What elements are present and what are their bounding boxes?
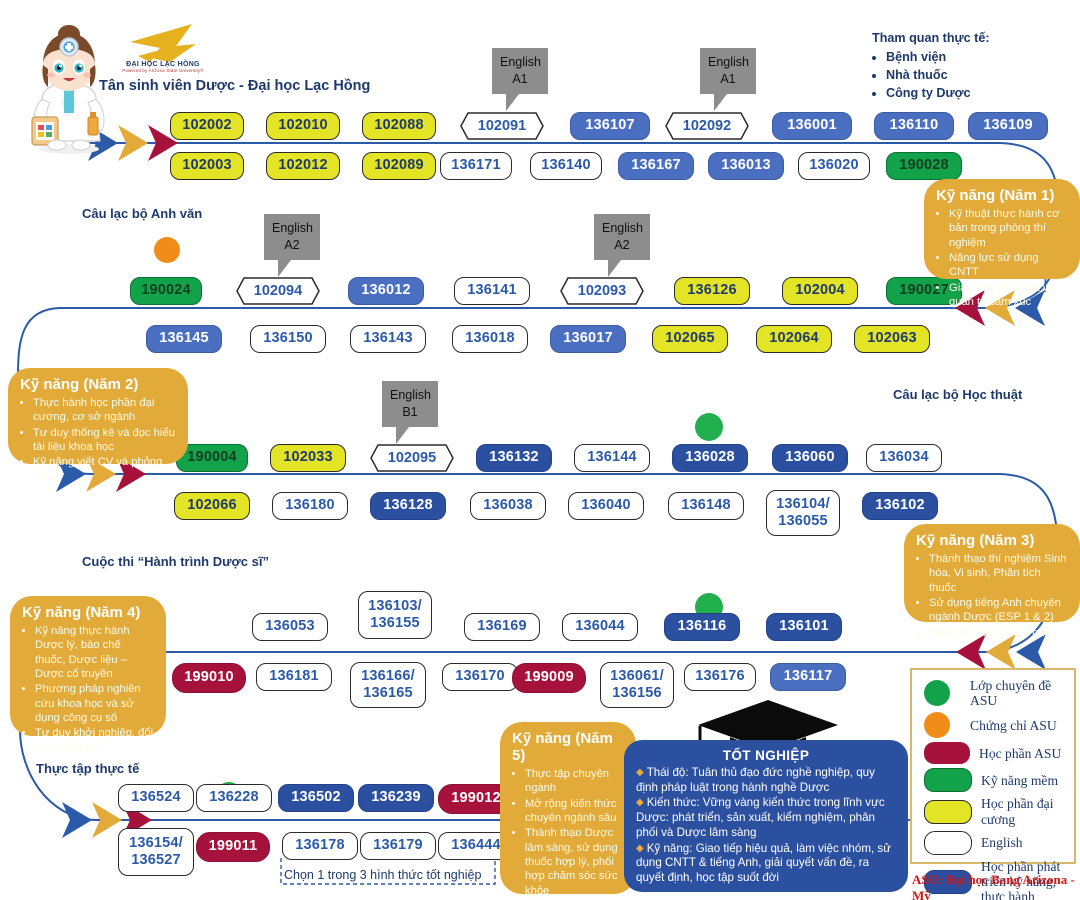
course-pill[interactable]: 102002 xyxy=(170,112,244,140)
course-pill[interactable]: 136017 xyxy=(550,325,626,353)
callout-level: B1 xyxy=(402,405,417,419)
plane-logo-icon xyxy=(130,24,196,62)
course-pill[interactable]: 136178 xyxy=(282,832,358,860)
legend-row: English xyxy=(914,831,1068,855)
course-pill[interactable]: 136028 xyxy=(672,444,748,472)
legend-swatch-soft-skill xyxy=(924,768,972,792)
skill-box-title: Kỹ năng (Năm 1) xyxy=(936,187,1068,204)
asu-certificate-dot xyxy=(154,237,180,263)
course-pill[interactable]: 136034 xyxy=(866,444,942,472)
skill-item: Năng lực sử dụng CNTT xyxy=(949,251,1068,280)
legend-row: Lớp chuyên đề ASU xyxy=(914,678,1068,708)
skill-item: Kỹ năng viết CV và phỏng vấn xyxy=(33,455,176,484)
course-pill[interactable]: 136109 xyxy=(968,112,1048,140)
skill-box-title: Kỹ năng (Năm 3) xyxy=(916,532,1068,549)
course-pill[interactable]: 136020 xyxy=(798,152,870,180)
course-pill[interactable]: 136167 xyxy=(618,152,694,180)
course-pill[interactable]: 136053 xyxy=(252,613,328,641)
course-pill-english[interactable]: 102094 xyxy=(236,277,320,305)
university-logo: ĐẠI HỌC LẠC HỒNG Powered by Arizona Stat… xyxy=(118,61,208,73)
course-pill[interactable]: 136061/ 136156 xyxy=(600,662,674,708)
course-pill[interactable]: 136170 xyxy=(442,663,518,691)
curriculum-roadmap: ĐẠI HỌC LẠC HỒNG Powered by Arizona Stat… xyxy=(0,0,1080,900)
course-pill[interactable]: 136143 xyxy=(350,325,426,353)
course-pill[interactable]: 102064 xyxy=(756,325,832,353)
skill-box-year-2: Kỹ năng (Năm 2) Thực hành học phần đại c… xyxy=(8,368,188,464)
course-pill[interactable]: 136132 xyxy=(476,444,552,472)
skill-box-year-5: Kỹ năng (Năm 5) Thực tập chuyên ngành Mở… xyxy=(500,722,636,894)
english-club-label: Câu lạc bộ Anh văn xyxy=(82,206,202,221)
course-pill[interactable]: 136101 xyxy=(766,613,842,641)
diamond-bullet-icon: ◆ xyxy=(636,843,644,854)
course-pill[interactable]: 136140 xyxy=(530,152,602,180)
skill-item: Thực hành học phần đại cương, cơ sở ngàn… xyxy=(33,396,176,425)
skill-item: Thành thạo thí nghiệm Sinh hóa, Vi sinh,… xyxy=(929,552,1068,595)
skill-item: Làm việc nhóm hiệu quả xyxy=(929,626,1068,640)
legend-row: Học phần đại cương xyxy=(914,796,1068,826)
field-trip-item: Nhà thuốc xyxy=(886,67,1072,85)
course-pill[interactable]: 136013 xyxy=(708,152,784,180)
legend-swatch-general-course xyxy=(924,800,972,824)
callout-label: English xyxy=(390,388,431,402)
diamond-bullet-icon: ◆ xyxy=(636,767,644,778)
course-pill[interactable]: 136012 xyxy=(348,277,424,305)
page-title: Tân sinh viên Dược - Đại học Lạc Hồng xyxy=(99,78,370,94)
course-code: 102091 xyxy=(460,112,544,140)
course-pill[interactable]: 136040 xyxy=(568,492,644,520)
course-pill[interactable]: 136150 xyxy=(250,325,326,353)
course-pill[interactable]: 136107 xyxy=(570,112,650,140)
legend-row: Chứng chỉ ASU xyxy=(914,712,1068,738)
graduation-point: ◆Kỹ năng: Giao tiếp hiệu quả, làm việc n… xyxy=(636,842,896,886)
callout-level: A2 xyxy=(284,238,299,252)
course-pill[interactable]: 102012 xyxy=(266,152,340,180)
skill-item: Giao tiếp hiệu quả và quản trị cảm xúc xyxy=(949,281,1068,310)
course-pill[interactable]: 136102 xyxy=(862,492,938,520)
legend-note: ASU: Đại học Bang Arizona - Mỹ xyxy=(912,872,1080,900)
english-callout-a1-2: EnglishA1 xyxy=(700,48,756,94)
callout-level: A2 xyxy=(614,238,629,252)
english-callout-b1: EnglishB1 xyxy=(382,381,438,427)
course-pill[interactable]: 102003 xyxy=(170,152,244,180)
course-pill[interactable]: 136181 xyxy=(256,663,332,691)
course-pill[interactable]: 199009 xyxy=(512,663,586,693)
academic-club-label: Câu lạc bộ Học thuật xyxy=(893,387,1022,402)
field-trip-item: Bệnh viện xyxy=(886,49,1072,67)
course-pill[interactable]: 136103/ 136155 xyxy=(358,591,432,639)
course-pill[interactable]: 136228 xyxy=(196,784,272,812)
legend-row: Kỹ năng mềm xyxy=(914,768,1068,792)
course-pill[interactable]: 136001 xyxy=(772,112,852,140)
skill-item: Phương pháp nghiên cứu khoa học và sử dụ… xyxy=(35,682,154,725)
course-pill[interactable]: 136148 xyxy=(668,492,744,520)
course-pill[interactable]: 102004 xyxy=(782,277,858,305)
skill-item: Thành thạo Dược lâm sàng, sử dụng thuốc … xyxy=(525,826,624,898)
skill-box-title: Kỹ năng (Năm 5) xyxy=(512,730,624,764)
course-pill[interactable]: 136110 xyxy=(874,112,954,140)
legend-label: Học phần đại cương xyxy=(981,796,1068,826)
legend-swatch-asu-course xyxy=(924,742,970,764)
course-pill[interactable]: 199011 xyxy=(196,832,270,862)
legend-label: Kỹ năng mềm xyxy=(981,773,1058,788)
course-pill-english[interactable]: 102092 xyxy=(665,112,749,140)
callout-label: English xyxy=(708,55,749,69)
skill-item: Kỹ năng thực hành Dược lý, bào chế thuốc… xyxy=(35,624,154,681)
english-callout-a2-1: EnglishA2 xyxy=(264,214,320,260)
course-pill[interactable]: 136044 xyxy=(562,613,638,641)
skill-box-title: Kỹ năng (Năm 4) xyxy=(22,604,154,621)
course-pill[interactable]: 136524 xyxy=(118,784,194,812)
legend-label: English xyxy=(981,835,1023,850)
course-pill[interactable]: 102010 xyxy=(266,112,340,140)
skill-box-title: Kỹ năng (Năm 2) xyxy=(20,376,176,393)
course-pill[interactable]: 136117 xyxy=(770,663,846,691)
legend-label: Chứng chỉ ASU xyxy=(970,718,1057,733)
skill-box-year-4: Kỹ năng (Năm 4) Kỹ năng thực hành Dược l… xyxy=(10,596,166,736)
skill-item: Tư duy thống kê và đọc hiểu tài liệu kho… xyxy=(33,426,176,455)
course-pill[interactable]: 199010 xyxy=(172,663,246,693)
course-code: 102093 xyxy=(560,277,644,305)
course-pill[interactable]: 136154/ 136527 xyxy=(118,828,194,876)
course-pill[interactable]: 136166/ 136165 xyxy=(350,662,426,708)
legend: Lớp chuyên đề ASU Chứng chỉ ASU Học phần… xyxy=(910,668,1076,864)
skill-box-year-1: Kỹ năng (Năm 1) Kỹ thuật thực hành cơ bả… xyxy=(924,179,1080,279)
english-callout-a1-1: EnglishA1 xyxy=(492,48,548,94)
course-pill[interactable]: 190024 xyxy=(130,277,202,305)
course-pill[interactable]: 136180 xyxy=(272,492,348,520)
course-pill[interactable]: 136128 xyxy=(370,492,446,520)
course-pill[interactable]: 136104/ 136055 xyxy=(766,490,840,536)
course-pill[interactable]: 136239 xyxy=(358,784,434,812)
skill-box-year-3: Kỹ năng (Năm 3) Thành thạo thí nghiệm Si… xyxy=(904,524,1080,622)
callout-label: English xyxy=(500,55,541,69)
graduation-title: TỐT NGHIỆP xyxy=(636,748,896,763)
contest-label: Cuộc thi “Hành trình Dược sĩ” xyxy=(82,554,269,569)
course-pill[interactable]: 136038 xyxy=(470,492,546,520)
course-pill[interactable]: 102066 xyxy=(174,492,250,520)
course-pill[interactable]: 136169 xyxy=(464,613,540,641)
course-pill-english[interactable]: 102093 xyxy=(560,277,644,305)
course-pill-english[interactable]: 102091 xyxy=(460,112,544,140)
field-trip-title: Tham quan thực tế: xyxy=(872,30,1072,48)
legend-row: Học phần ASU xyxy=(914,742,1068,764)
skill-item: Mở rộng kiến thức chuyên ngành sâu xyxy=(525,797,624,826)
course-pill[interactable]: 136171 xyxy=(440,152,512,180)
internship-label: Thực tập thực tế xyxy=(36,761,139,776)
course-pill-english[interactable]: 102095 xyxy=(370,444,454,472)
course-pill[interactable]: 102089 xyxy=(362,152,436,180)
legend-label: Học phần ASU xyxy=(979,746,1061,761)
callout-level: A1 xyxy=(512,72,527,86)
legend-swatch-english xyxy=(924,831,972,855)
course-pill[interactable]: 136144 xyxy=(574,444,650,472)
skill-item: Kỹ thuật thực hành cơ bản trong phòng th… xyxy=(949,207,1068,250)
course-code: 102092 xyxy=(665,112,749,140)
callout-label: English xyxy=(272,221,313,235)
course-pill[interactable]: 136126 xyxy=(674,277,750,305)
course-code: 102094 xyxy=(236,277,320,305)
logo-line-2: Powered by Arizona State University® xyxy=(118,68,208,73)
course-pill[interactable]: 136502 xyxy=(278,784,354,812)
skill-item: Sử dụng tiếng Anh chuyên ngành Dược (ESP… xyxy=(929,596,1068,625)
course-pill[interactable]: 136141 xyxy=(454,277,530,305)
course-pill[interactable]: 190028 xyxy=(886,152,962,180)
course-pill[interactable]: 136176 xyxy=(684,663,756,691)
asu-seminar-dot-1 xyxy=(695,413,723,441)
field-trip-item: Công ty Dược xyxy=(886,85,1072,103)
course-pill[interactable]: 136116 xyxy=(664,613,740,641)
course-pill[interactable]: 136145 xyxy=(146,325,222,353)
diamond-bullet-icon: ◆ xyxy=(636,797,644,808)
callout-level: A1 xyxy=(720,72,735,86)
course-pill[interactable]: 136018 xyxy=(452,325,528,353)
course-pill[interactable]: 136060 xyxy=(772,444,848,472)
legend-swatch-asu-seminar xyxy=(924,680,950,706)
course-code: 102095 xyxy=(370,444,454,472)
legend-swatch-asu-certificate xyxy=(924,712,950,738)
course-pill[interactable]: 102033 xyxy=(270,444,346,472)
logo-line-1: ĐẠI HỌC LẠC HỒNG xyxy=(118,61,208,68)
skill-item: Thực tập chuyên ngành xyxy=(525,767,624,796)
course-pill[interactable]: 102063 xyxy=(854,325,930,353)
course-pill[interactable]: 136179 xyxy=(360,832,436,860)
course-pill[interactable]: 102088 xyxy=(362,112,436,140)
graduation-box: TỐT NGHIỆP ◆Thái độ: Tuân thủ đạo đức ng… xyxy=(624,740,908,892)
skill-item: Tư duy khởi nghiệp, đổi mới sáng tạo xyxy=(35,726,154,755)
legend-label: Lớp chuyên đề ASU xyxy=(970,678,1068,708)
english-callout-a2-2: EnglishA2 xyxy=(594,214,650,260)
callout-label: English xyxy=(602,221,643,235)
field-trip-note: Tham quan thực tế: Bệnh viện Nhà thuốc C… xyxy=(872,30,1072,103)
graduation-choice-note: Chọn 1 trong 3 hình thức tốt nghiệp xyxy=(284,868,481,882)
course-pill[interactable]: 102065 xyxy=(652,325,728,353)
graduation-point: ◆Thái độ: Tuân thủ đạo đức nghề nghiệp, … xyxy=(636,766,896,795)
graduation-point: ◆Kiến thức: Vững vàng kiến thức trong lĩ… xyxy=(636,796,896,840)
